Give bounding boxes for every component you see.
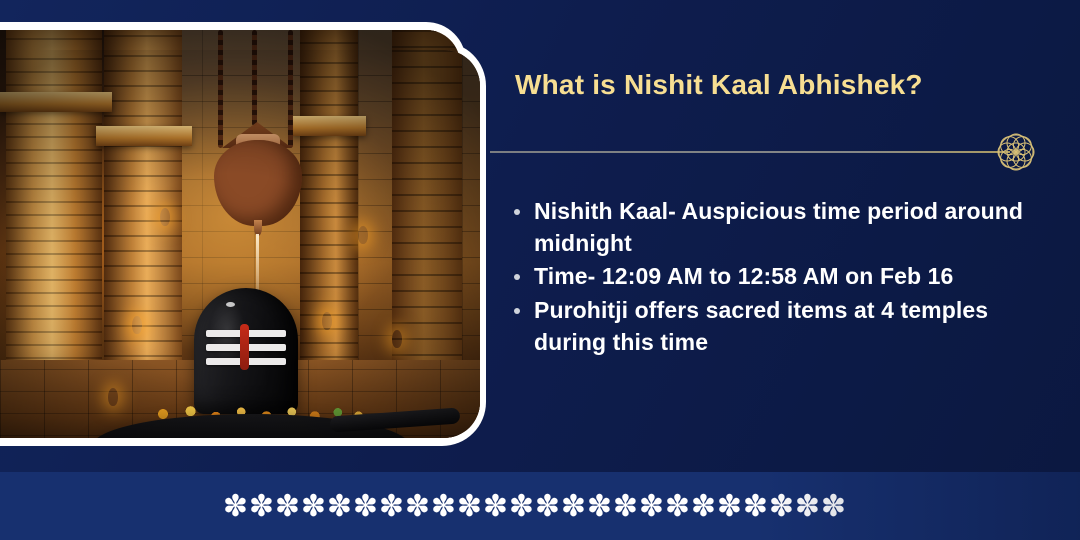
temple-photo-lower (0, 50, 480, 438)
list-item: Purohitji offers sacred items at 4 templ… (510, 295, 1055, 358)
list-item-text: Nishith Kaal- Auspicious time period aro… (534, 196, 1055, 259)
list-item-text: Time- 12:09 AM to 12:58 AM on Feb 16 (534, 261, 953, 293)
bullet-dot-icon (514, 209, 520, 215)
list-item: Nishith Kaal- Auspicious time period aro… (510, 196, 1055, 259)
bullet-dot-icon (514, 308, 520, 314)
footer-band: ✽✽✽✽✽✽✽✽✽✽✽✽✽✽✽✽✽✽✽✽✽✽✽✽ (0, 472, 1080, 540)
title-divider (490, 151, 1010, 153)
slide-root: What is Nishit Kaal Abhishek? Nishith Ka… (0, 0, 1080, 540)
content-panel: What is Nishit Kaal Abhishek? Nishith Ka… (490, 0, 1080, 540)
page-title: What is Nishit Kaal Abhishek? (515, 68, 1055, 102)
band-shade (0, 472, 1080, 540)
photo-vignette (0, 50, 480, 438)
list-item: Time- 12:09 AM to 12:58 AM on Feb 16 (510, 261, 1055, 293)
list-item-text: Purohitji offers sacred items at 4 templ… (534, 295, 1055, 358)
mandala-icon (990, 126, 1042, 178)
bullet-list: Nishith Kaal- Auspicious time period aro… (510, 196, 1055, 361)
bullet-dot-icon (514, 274, 520, 280)
temple-scene-lower (0, 50, 480, 438)
